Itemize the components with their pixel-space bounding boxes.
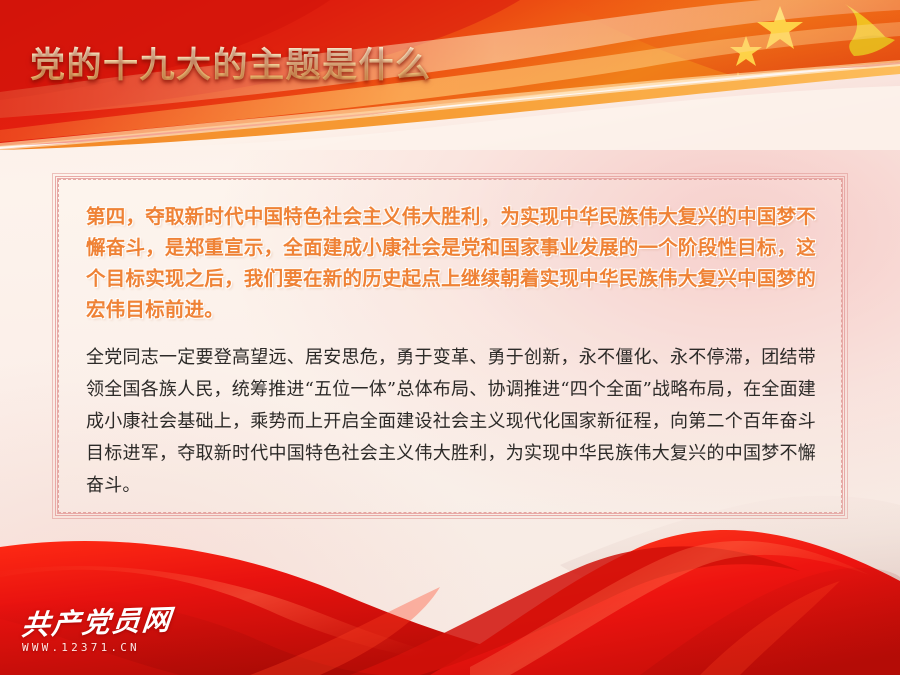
site-logo-url: WWW.12371.CN (22, 642, 172, 653)
header-banner: 党的十九大的主题是什么 (0, 0, 900, 150)
body-paragraph: 全党同志一定要登高望远、居安思危，勇于变革、勇于创新，永不僵化、永不停滞，团结带… (86, 342, 816, 502)
poster-page: 党的十九大的主题是什么 第四，夺取新时代中国特色社会主义伟大胜利，为实现中华民族… (0, 0, 900, 675)
content-box: 第四，夺取新时代中国特色社会主义伟大胜利，为实现中华民族伟大复兴的中国梦不懈奋斗… (55, 176, 845, 516)
page-title: 党的十九大的主题是什么 (30, 46, 432, 86)
highlight-paragraph: 第四，夺取新时代中国特色社会主义伟大胜利，为实现中华民族伟大复兴的中国梦不懈奋斗… (86, 201, 816, 325)
silk-wave-right (430, 530, 900, 675)
site-logo-text: 共产党员网 (20, 606, 174, 640)
site-logo: 共产党员网 WWW.12371.CN (22, 609, 172, 653)
